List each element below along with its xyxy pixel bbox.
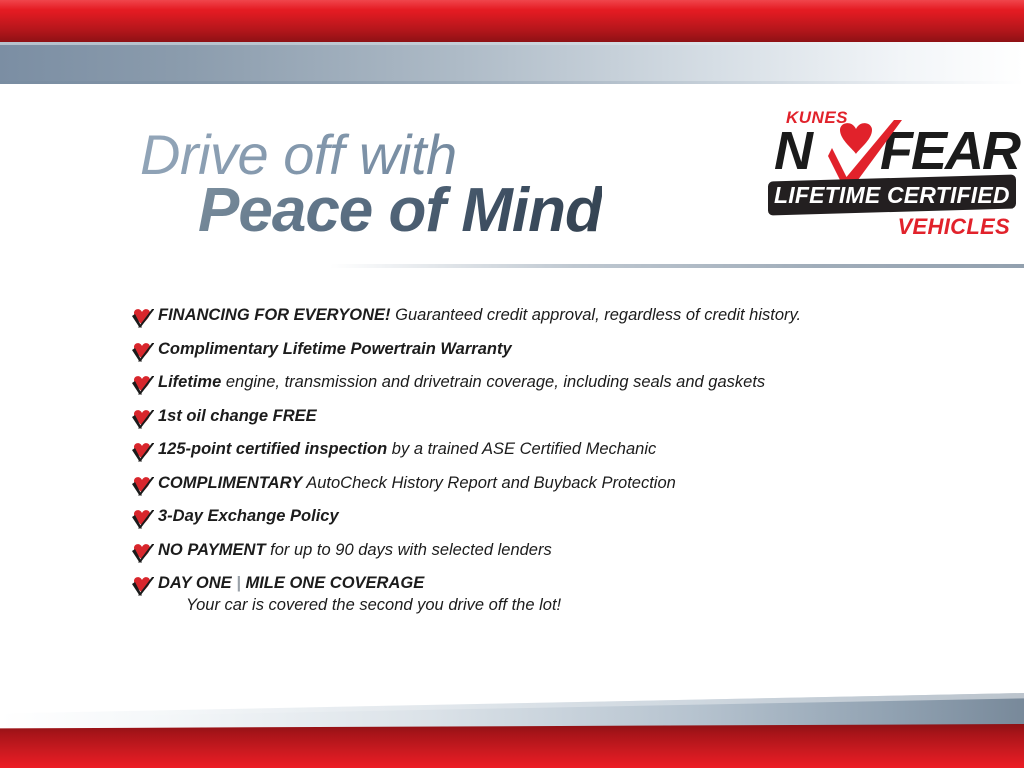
list-item-strong: 125-point certified inspection	[158, 440, 387, 458]
list-item-text: Lifetime engine, transmission and drivet…	[158, 373, 930, 392]
top-banner	[0, 0, 1024, 86]
logo-bar-text: LIFETIME CERTIFIED	[774, 182, 1010, 209]
promo-graphic: Drive off with Peace of Mind KUNES N FEA…	[0, 0, 1024, 768]
logo-lifetime-certified-bar: LIFETIME CERTIFIED	[768, 175, 1016, 216]
list-item-text: 3-Day Exchange Policy	[158, 507, 930, 526]
list-item-body: Lifetime engine, transmission and drivet…	[154, 373, 930, 392]
list-item-body: Complimentary Lifetime Powertrain Warran…	[154, 340, 930, 359]
list-item-text: NO PAYMENT for up to 90 days with select…	[158, 541, 930, 560]
list-item-body: 125-point certified inspection by a trai…	[154, 440, 930, 459]
top-gray-bottom-edge	[0, 81, 1024, 84]
list-item: 3-Day Exchange Policy	[130, 507, 930, 530]
list-item-text: COMPLIMENTARY AutoCheck History Report a…	[158, 474, 930, 493]
list-item-strong: FINANCING FOR EVERYONE!	[158, 306, 391, 324]
headline-line-1: Drive off with	[140, 126, 602, 183]
list-item-body: 3-Day Exchange Policy	[154, 507, 930, 526]
list-item-strong-2: MILE ONE COVERAGE	[245, 574, 424, 592]
list-item: Lifetime engine, transmission and drivet…	[130, 373, 930, 396]
bottom-banner	[0, 690, 1024, 768]
list-item-strong: 1st oil change FREE	[158, 407, 317, 425]
list-item: DAY ONE | MILE ONE COVERAGE Your car is …	[130, 574, 930, 617]
list-item: NO PAYMENT for up to 90 days with select…	[130, 541, 930, 564]
list-item-separator: |	[232, 574, 246, 592]
list-item-text: Complimentary Lifetime Powertrain Warran…	[158, 340, 930, 359]
heart-check-bullet-icon	[130, 374, 154, 396]
top-gray-gradient-bar	[0, 42, 1024, 84]
headline-line-2: Peace of Mind	[198, 179, 602, 242]
logo-letter-n: N	[774, 124, 811, 178]
divider-line	[330, 264, 1024, 268]
list-item-strong: NO PAYMENT	[158, 541, 266, 559]
list-item-normal: AutoCheck History Report and Buyback Pro…	[302, 474, 676, 492]
bottom-gray-gradient-bar	[0, 690, 1024, 728]
list-item-normal: by a trained ASE Certified Mechanic	[387, 440, 656, 458]
list-item-text: FINANCING FOR EVERYONE! Guaranteed credi…	[158, 306, 930, 325]
kunes-no-fear-logo: KUNES N FEAR LIFETIME CERTIFIED VEHICLES	[768, 108, 1016, 248]
list-item-strong: DAY ONE	[158, 574, 232, 592]
heart-check-bullet-icon	[130, 408, 154, 430]
list-item-normal: for up to 90 days with selected lenders	[266, 541, 552, 559]
heart-check-bullet-icon	[130, 575, 154, 597]
benefits-list: FINANCING FOR EVERYONE! Guaranteed credi…	[130, 306, 930, 627]
list-item-strong: COMPLIMENTARY	[158, 474, 302, 492]
list-item-strong: Complimentary Lifetime Powertrain Warran…	[158, 340, 512, 358]
list-item-body: FINANCING FOR EVERYONE! Guaranteed credi…	[154, 306, 930, 325]
heart-check-bullet-icon	[130, 441, 154, 463]
list-item-body: 1st oil change FREE	[154, 407, 930, 426]
list-item: COMPLIMENTARY AutoCheck History Report a…	[130, 474, 930, 497]
list-item-strong: Lifetime	[158, 373, 221, 391]
headline: Drive off with Peace of Mind	[140, 126, 602, 242]
list-item: FINANCING FOR EVERYONE! Guaranteed credi…	[130, 306, 930, 329]
bottom-red-bar	[0, 724, 1024, 768]
logo-vehicles-text: VEHICLES	[898, 214, 1010, 240]
logo-no-fear-wordmark: N FEAR	[774, 124, 1016, 182]
list-item-subtext: Your car is covered the second you drive…	[186, 595, 930, 616]
list-item: 125-point certified inspection by a trai…	[130, 440, 930, 463]
list-item-text: DAY ONE | MILE ONE COVERAGE	[158, 574, 930, 593]
list-item-normal: Guaranteed credit approval, regardless o…	[391, 306, 802, 324]
heart-check-bullet-icon	[130, 341, 154, 363]
list-item-normal: engine, transmission and drivetrain cove…	[221, 373, 765, 391]
heart-check-bullet-icon	[130, 508, 154, 530]
list-item-text: 125-point certified inspection by a trai…	[158, 440, 930, 459]
heart-check-bullet-icon	[130, 542, 154, 564]
list-item-text: 1st oil change FREE	[158, 407, 930, 426]
list-item-strong: 3-Day Exchange Policy	[158, 507, 339, 525]
list-item: 1st oil change FREE	[130, 407, 930, 430]
list-item-body: COMPLIMENTARY AutoCheck History Report a…	[154, 474, 930, 493]
list-item-body: DAY ONE | MILE ONE COVERAGE Your car is …	[154, 574, 930, 617]
list-item: Complimentary Lifetime Powertrain Warran…	[130, 340, 930, 363]
top-gray-top-edge	[0, 42, 1024, 45]
list-item-body: NO PAYMENT for up to 90 days with select…	[154, 541, 930, 560]
heart-check-bullet-icon	[130, 475, 154, 497]
top-red-highlight	[0, 0, 1024, 10]
heart-check-bullet-icon	[130, 307, 154, 329]
top-red-bar	[0, 0, 1024, 42]
